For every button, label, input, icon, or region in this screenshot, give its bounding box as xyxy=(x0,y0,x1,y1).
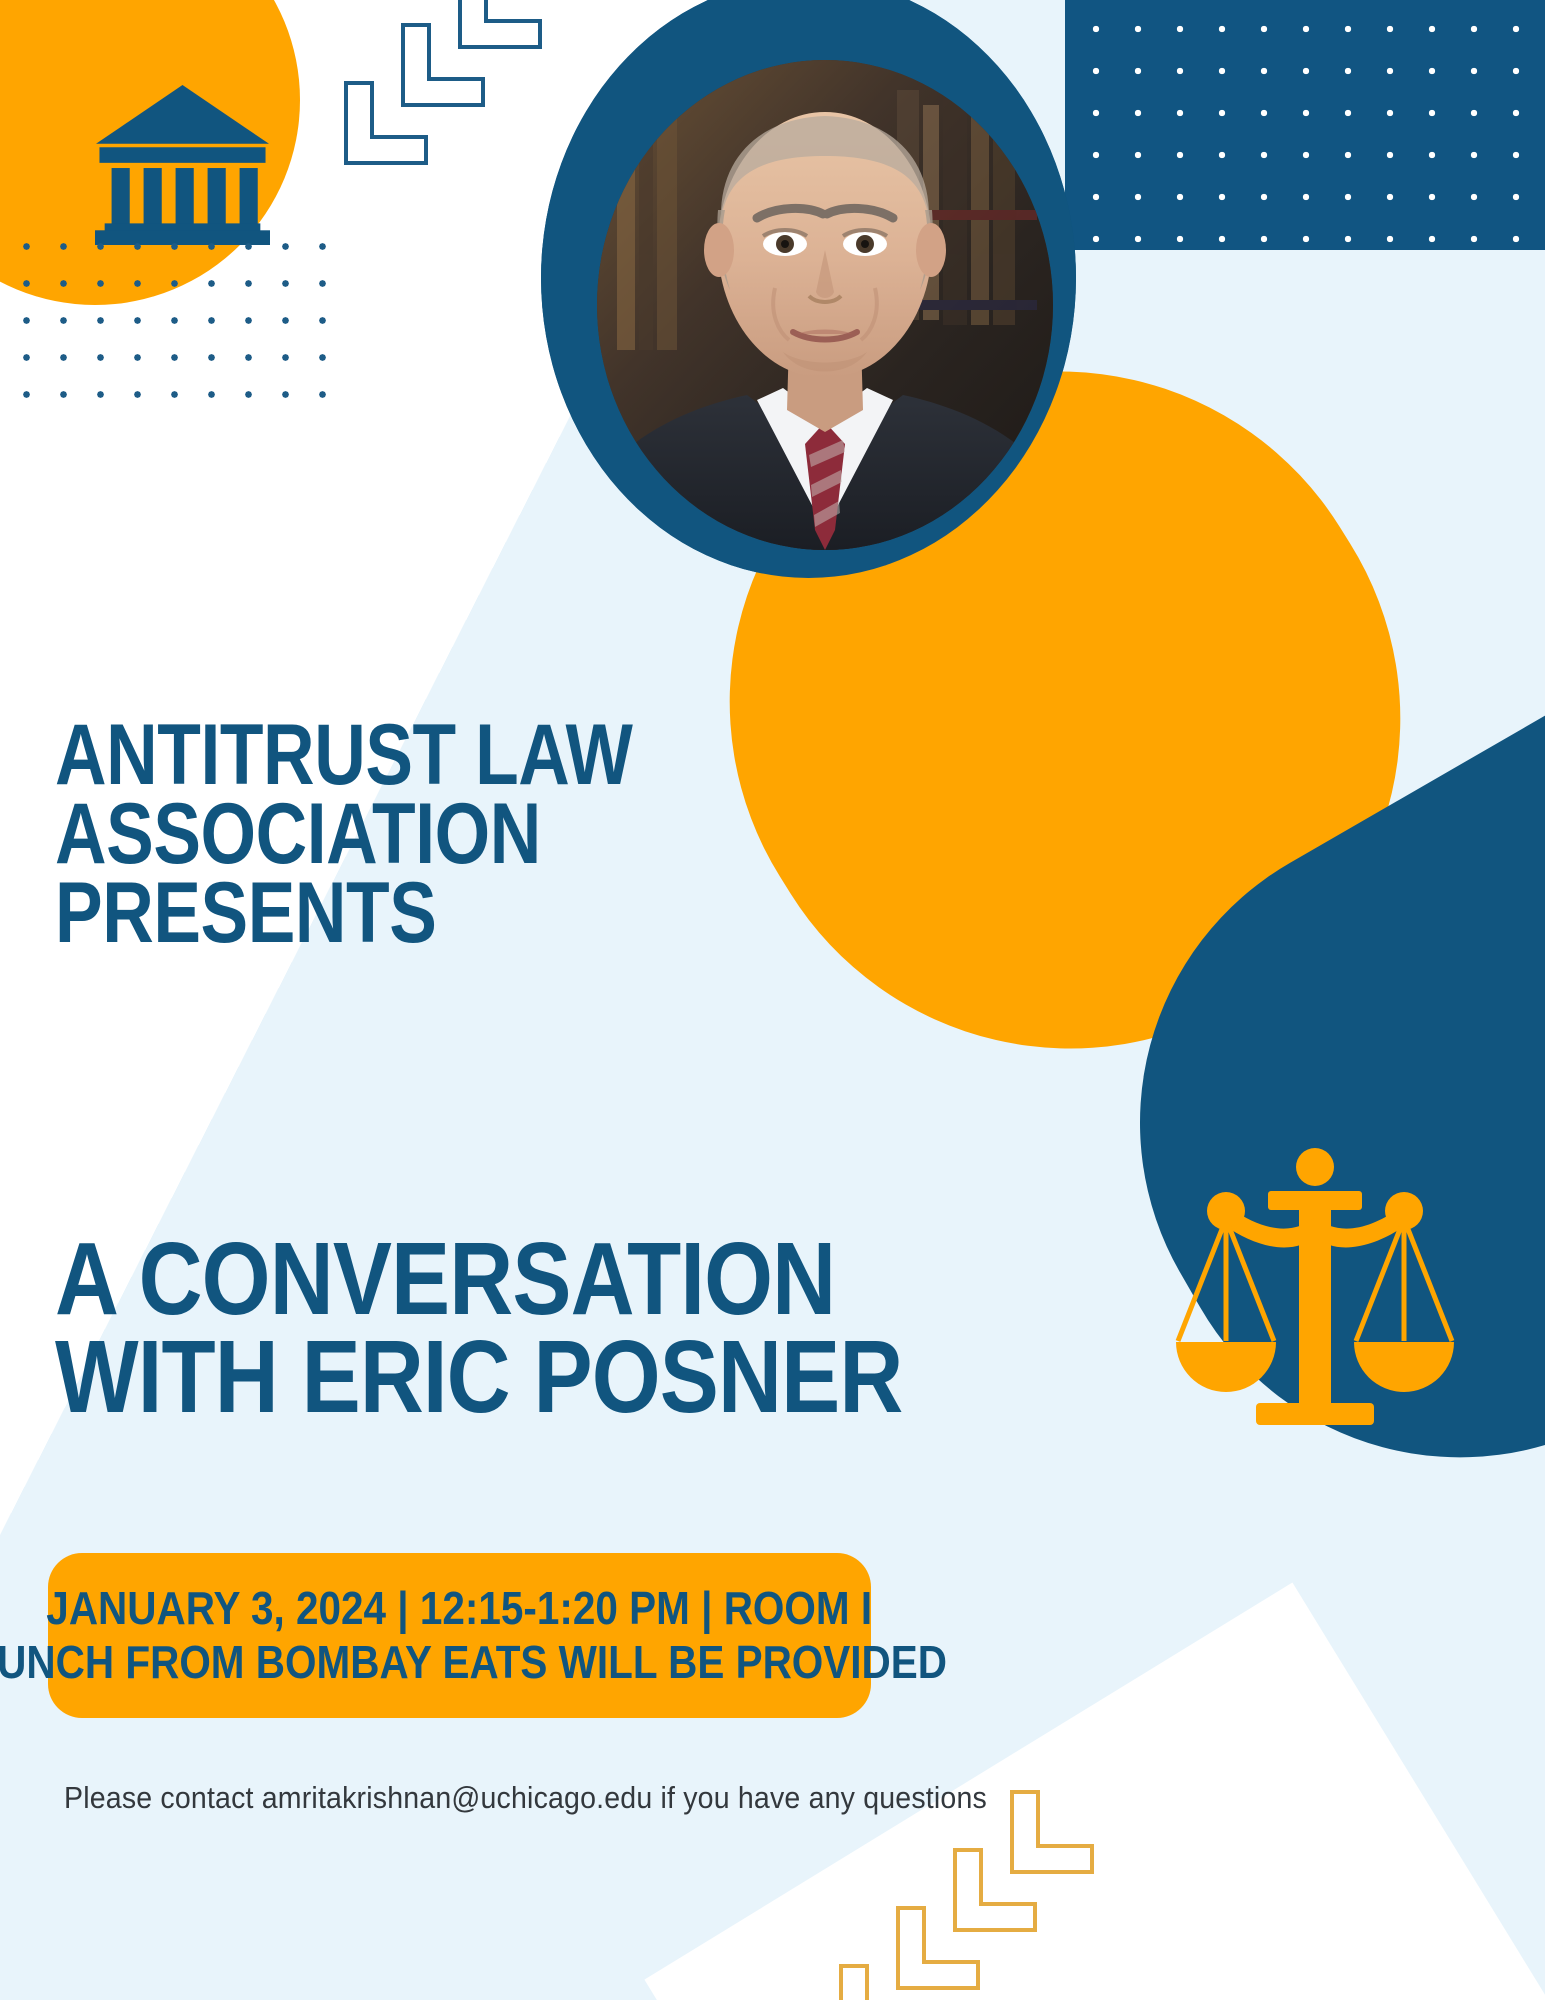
blue-l-bracket-icon xyxy=(457,0,543,50)
orange-l-bracket-icon xyxy=(1009,1789,1095,1875)
dot-grid-decoration xyxy=(8,228,338,408)
event-datetime-room: JANUARY 3, 2024 | 12:15-1:20 PM | ROOM I xyxy=(47,1582,873,1635)
event-details-banner: JANUARY 3, 2024 | 12:15-1:20 PM | ROOM I… xyxy=(48,1553,871,1718)
contact-note: Please contact amritakrishnan@uchicago.e… xyxy=(64,1780,987,1816)
courthouse-icon xyxy=(95,85,270,245)
subheadline-block: A CONVERSATION WITH ERIC POSNER xyxy=(55,1230,1105,1426)
blue-dotted-panel xyxy=(1065,0,1545,250)
subheadline-line-1: A CONVERSATION xyxy=(55,1230,958,1328)
headline-line-2: ASSOCIATION xyxy=(55,795,802,874)
headline-line-3: PRESENTS xyxy=(55,874,802,953)
subheadline-line-2: WITH ERIC POSNER xyxy=(55,1328,958,1426)
event-catering-note: LUNCH FROM BOMBAY EATS WILL BE PROVIDED xyxy=(0,1636,947,1689)
headline-block: ANTITRUST LAW ASSOCIATION PRESENTS xyxy=(55,716,955,953)
headline-line-1: ANTITRUST LAW xyxy=(55,716,802,795)
scales-of-justice-icon xyxy=(1160,1145,1470,1435)
avatar-overlay xyxy=(597,60,1053,550)
event-flyer: ANTITRUST LAW ASSOCIATION PRESENTS A CON… xyxy=(0,0,1545,2000)
